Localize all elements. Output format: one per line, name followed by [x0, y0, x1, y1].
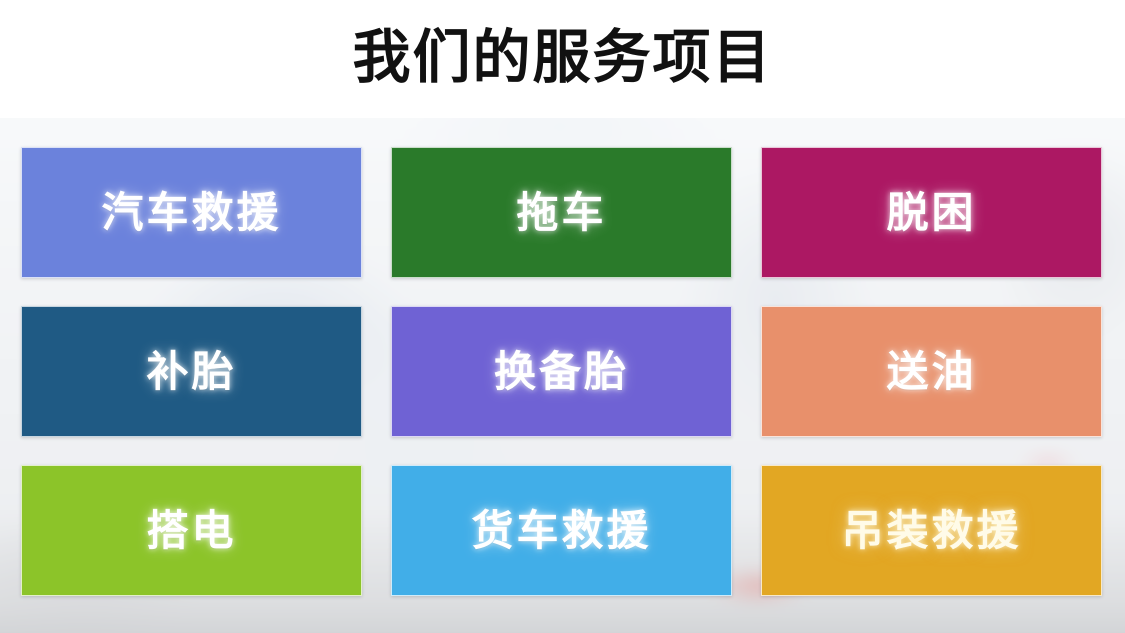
service-tile-label: 脱困	[886, 189, 976, 237]
service-tile-label: 拖车	[516, 189, 606, 237]
poster-content: 我们的服务项目 汽车救援 拖车 脱困 补胎 换备胎 送油 搭电	[0, 0, 1125, 633]
service-tile-1[interactable]: 汽车救援	[21, 147, 362, 278]
service-tile-label: 货车救援	[471, 507, 651, 555]
page-title: 我们的服务项目	[0, 22, 1125, 94]
service-tile-label: 补胎	[146, 348, 236, 396]
service-poster: 我们的服务项目 汽车救援 拖车 脱困 补胎 换备胎 送油 搭电	[0, 0, 1125, 633]
service-tile-label: 送油	[886, 348, 976, 396]
service-tile-6[interactable]: 送油	[761, 306, 1102, 437]
service-grid: 汽车救援 拖车 脱困 补胎 换备胎 送油 搭电 货车救援	[21, 147, 1103, 597]
service-tile-3[interactable]: 脱困	[761, 147, 1102, 278]
service-tile-label: 搭电	[146, 507, 236, 555]
service-tile-4[interactable]: 补胎	[21, 306, 362, 437]
service-tile-2[interactable]: 拖车	[391, 147, 732, 278]
service-tile-9[interactable]: 吊装救援	[761, 465, 1102, 596]
service-tile-label: 吊装救援	[841, 507, 1021, 555]
service-tile-label: 汽车救援	[101, 189, 281, 237]
service-tile-8[interactable]: 货车救援	[391, 465, 732, 596]
service-tile-7[interactable]: 搭电	[21, 465, 362, 596]
service-tile-label: 换备胎	[494, 348, 629, 396]
service-tile-5[interactable]: 换备胎	[391, 306, 732, 437]
